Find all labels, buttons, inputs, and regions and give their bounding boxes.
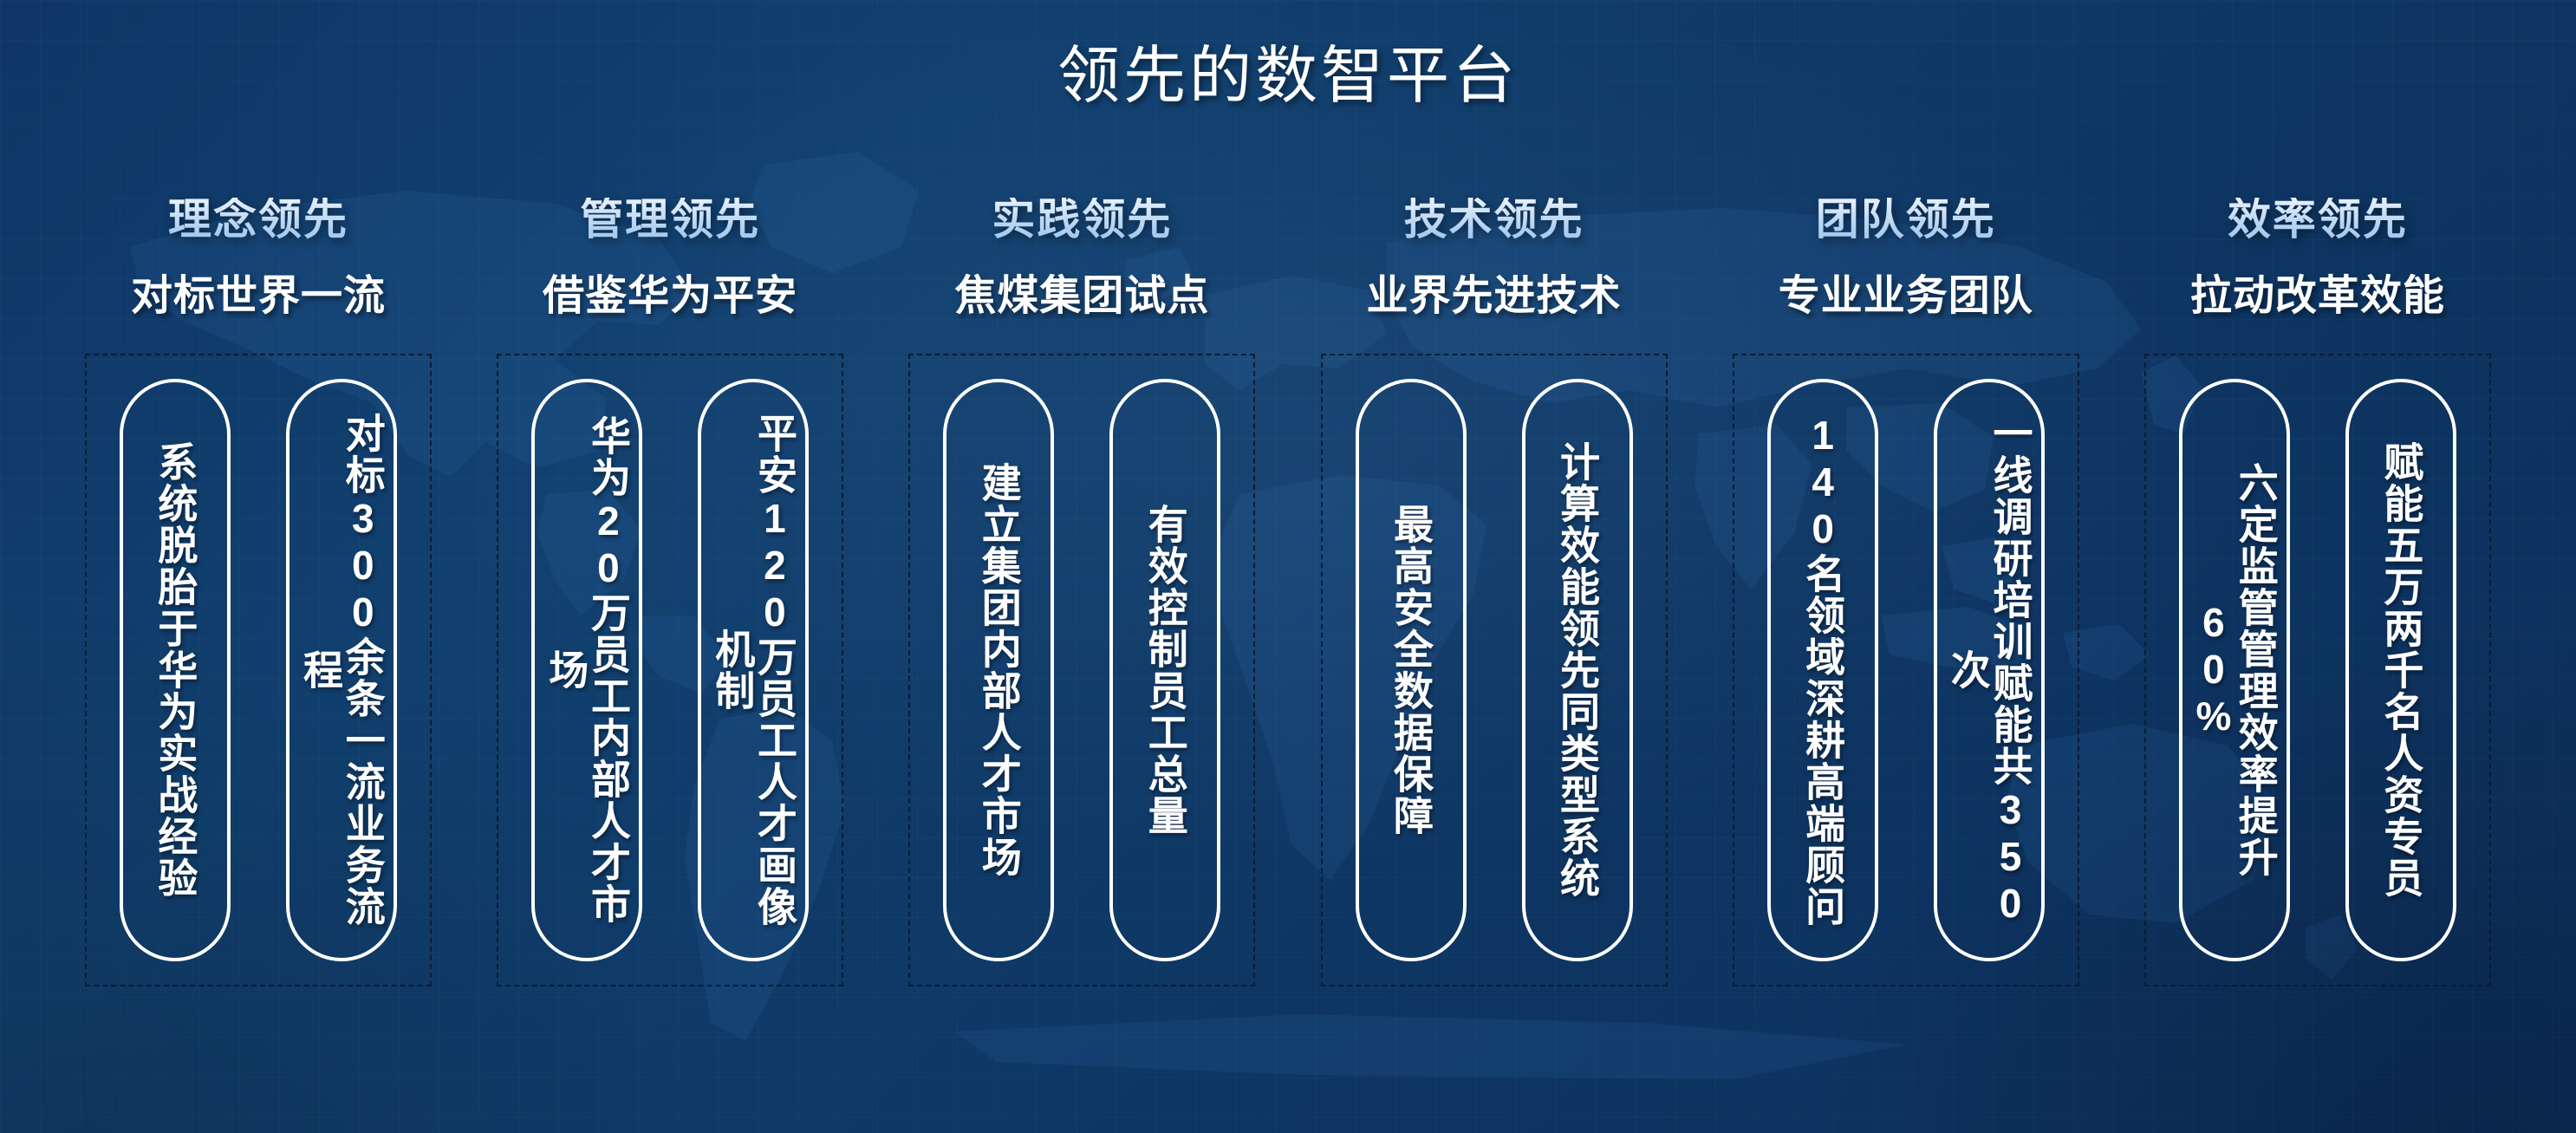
pill-text: 华为20万员工内部人才市场 (544, 398, 629, 942)
pill-frame: 最高安全数据保障 计算效能领先同类型系统 (1321, 354, 1668, 986)
pill-text: 平安120万员工人才画像机制 (711, 398, 796, 942)
pill-card[interactable]: 最高安全数据保障 (1356, 379, 1467, 961)
pill-text: 六定监管管理效率提升60% (2192, 398, 2277, 942)
pill-frame: 140名领域深耕高端顾问 一线调研培训赋能共350次 (1733, 354, 2079, 986)
column-理念领先: 理念领先 对标世界一流 系统脱胎于华为实战经验 对标300余条一流业务流程 (68, 198, 449, 986)
pill-card[interactable]: 有效控制员工总量 (1109, 379, 1220, 961)
pill-text: 系统脱胎于华为实战经验 (154, 441, 197, 899)
column-subheading: 借鉴华为平安 (543, 276, 797, 317)
column-subheading: 专业业务团队 (1779, 276, 2033, 317)
pill-text: 有效控制员工总量 (1144, 504, 1187, 837)
column-heading: 团队领先 (1816, 198, 1996, 241)
pill-text: 最高安全数据保障 (1389, 504, 1432, 837)
pill-card[interactable]: 赋能五万两千名人资专员 (2345, 379, 2456, 961)
pill-frame: 系统脱胎于华为实战经验 对标300余条一流业务流程 (85, 354, 432, 986)
pill-card[interactable]: 一线调研培训赋能共350次 (1934, 379, 2045, 961)
column-subheading: 对标世界一流 (131, 276, 386, 317)
pill-text: 赋能五万两千名人资专员 (2380, 441, 2423, 899)
pill-text: 140名领域深耕高端顾问 (1801, 413, 1844, 928)
pill-frame: 建立集团内部人才市场 有效控制员工总量 (908, 354, 1255, 986)
pill-card[interactable]: 对标300余条一流业务流程 (286, 379, 397, 961)
column-heading: 效率领先 (2228, 198, 2408, 241)
slide-root: 领先的数智平台 理念领先 对标世界一流 系统脱胎于华为实战经验 对标300余条一… (0, 0, 2576, 1133)
column-团队领先: 团队领先 专业业务团队 140名领域深耕高端顾问 一线调研培训赋能共350次 (1715, 198, 2097, 986)
pill-card[interactable]: 建立集团内部人才市场 (943, 379, 1054, 961)
column-管理领先: 管理领先 借鉴华为平安 华为20万员工内部人才市场 平安120万员工人才画像机制 (479, 198, 861, 986)
pill-frame: 六定监管管理效率提升60% 赋能五万两千名人资专员 (2144, 354, 2491, 986)
pill-card[interactable]: 系统脱胎于华为实战经验 (120, 379, 231, 961)
pill-text: 对标300余条一流业务流程 (299, 398, 384, 942)
columns-container: 理念领先 对标世界一流 系统脱胎于华为实战经验 对标300余条一流业务流程 管理… (68, 198, 2508, 1117)
column-heading: 理念领先 (168, 198, 348, 241)
column-效率领先: 效率领先 拉动改革效能 六定监管管理效率提升60% 赋能五万两千名人资专员 (2127, 198, 2508, 986)
column-heading: 实践领先 (992, 198, 1172, 241)
pill-card[interactable]: 平安120万员工人才画像机制 (698, 379, 809, 961)
column-heading: 技术领先 (1404, 198, 1584, 241)
pill-text: 计算效能领先同类型系统 (1556, 441, 1598, 899)
column-技术领先: 技术领先 业界先进技术 最高安全数据保障 计算效能领先同类型系统 (1304, 198, 1685, 986)
pill-text: 一线调研培训赋能共350次 (1947, 398, 2032, 942)
pill-frame: 华为20万员工内部人才市场 平安120万员工人才画像机制 (497, 354, 843, 986)
pill-text: 建立集团内部人才市场 (978, 462, 1020, 878)
column-subheading: 焦煤集团试点 (954, 276, 1209, 317)
column-subheading: 业界先进技术 (1367, 276, 1622, 317)
column-实践领先: 实践领先 焦煤集团试点 建立集团内部人才市场 有效控制员工总量 (891, 198, 1272, 986)
column-subheading: 拉动改革效能 (2190, 276, 2445, 317)
pill-card[interactable]: 计算效能领先同类型系统 (1522, 379, 1633, 961)
pill-card[interactable]: 140名领域深耕高端顾问 (1767, 379, 1878, 961)
page-title: 领先的数智平台 (0, 24, 2576, 115)
pill-card[interactable]: 华为20万员工内部人才市场 (531, 379, 642, 961)
column-heading: 管理领先 (580, 198, 760, 241)
pill-card[interactable]: 六定监管管理效率提升60% (2179, 379, 2290, 961)
